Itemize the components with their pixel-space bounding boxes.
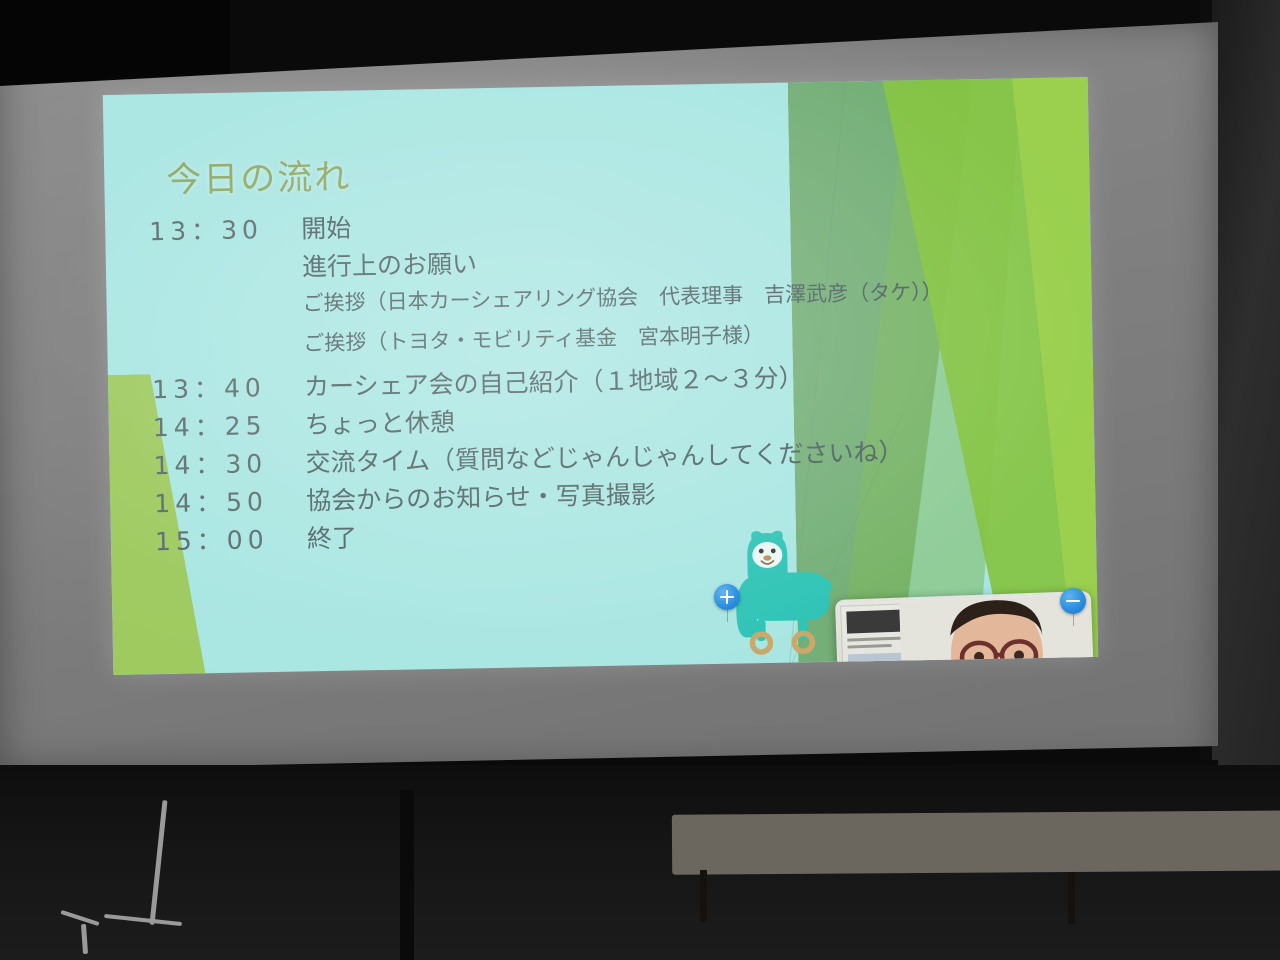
agenda-time: 13：40: [152, 367, 305, 406]
agenda-desc: 開始: [301, 209, 352, 246]
projector-photo-scene: 今日の流れ 13：30 開始 進行上のお願い ご挨拶（日本カーシェアリング協会 …: [0, 0, 1280, 960]
agenda-desc: 協会からのお知らせ・写真撮影: [306, 475, 656, 517]
agenda-desc: ご挨拶（日本カーシェアリング協会 代表理事 吉澤武彦（タケ））: [302, 276, 943, 318]
table-leg: [1068, 872, 1075, 924]
room-right-wall: [1212, 0, 1280, 790]
zoom-out-handle[interactable]: [1060, 588, 1086, 614]
agenda-time: 14：25: [153, 405, 306, 444]
screen-stand-leg: [400, 790, 414, 960]
agenda-time: 14：50: [154, 481, 307, 520]
agenda-desc: 進行上のお願い: [302, 244, 478, 283]
agenda-time: [150, 275, 302, 278]
agenda-time: 14：30: [153, 443, 306, 482]
agenda-row: ご挨拶（トヨタ・モビリティ基金 宮本明子様）: [151, 314, 1011, 360]
agenda-time: 15：00: [155, 519, 308, 558]
agenda-list: 13：30 開始 進行上のお願い ご挨拶（日本カーシェアリング協会 代表理事 吉…: [149, 196, 1015, 560]
table-surface: [672, 809, 1280, 875]
zoom-in-handle[interactable]: [714, 584, 740, 610]
agenda-time: [151, 310, 303, 313]
presentation-slide: 今日の流れ 13：30 開始 進行上のお願い ご挨拶（日本カーシェアリング協会 …: [103, 77, 1098, 675]
chair: [60, 800, 225, 950]
slide-title: 今日の流れ: [166, 149, 352, 203]
agenda-desc: ご挨拶（トヨタ・モビリティ基金 宮本明子様）: [303, 319, 764, 357]
agenda-desc: ちょっと休憩: [304, 403, 455, 442]
agenda-desc: 終了: [307, 518, 358, 555]
agenda-time: 13：30: [149, 209, 302, 248]
agenda-time: [152, 350, 304, 353]
table-leg: [700, 870, 707, 922]
